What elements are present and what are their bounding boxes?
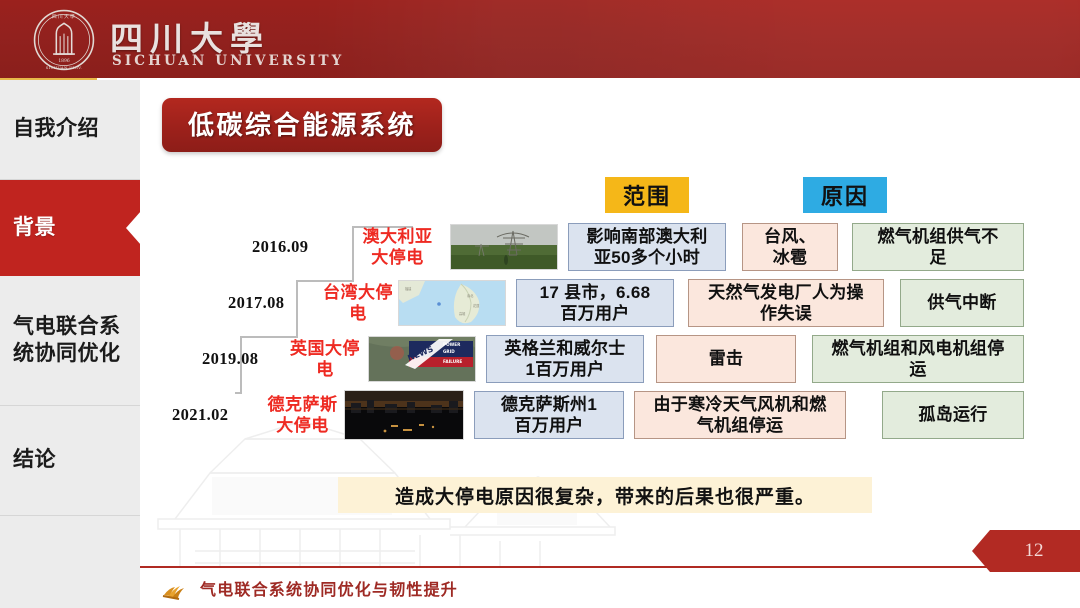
svg-text:POWER: POWER [443,342,461,347]
active-pointer-icon [126,211,141,245]
sidebar-item-background[interactable]: 背景 [0,180,140,276]
column-header-scope: 范围 [605,177,689,213]
slide-canvas: 低碳综合能源系统 范围 原因 2016.09 澳大利亚 大停电 [140,80,1080,608]
row-result-box: 燃气机组和风电机组停 运 [812,335,1024,383]
row-cause-box: 雷击 [656,335,796,383]
svg-text:GRID: GRID [443,349,455,354]
row-cause-box: 台风、 冰雹 [742,223,838,271]
row-result-box: 供气中断 [900,279,1024,327]
timeline-row: 2017.08 台湾大停 电 臺北 花蓮 高雄 福建 17 [140,276,1080,330]
summary-text: 造成大停电原因很复杂，带来的后果也很严重。 [395,482,815,509]
sidebar-item-conclusion[interactable]: 结论 [0,406,140,516]
svg-text:花蓮: 花蓮 [473,303,480,308]
column-header-scope-label: 范围 [623,179,671,211]
timeline-row: 2021.02 德克萨斯 大停电 [140,388,1080,442]
timeline-row: 2019.08 英国大停 电 NEWS POWER GRID [140,332,1080,386]
column-header-cause: 原因 [803,177,887,213]
svg-text:高雄: 高雄 [459,311,466,316]
svg-text:福建: 福建 [405,286,412,291]
row-event: 台湾大停 电 [313,282,403,325]
slide-header: 1896 四川大學 SICHUAN UNIV. 四川大學 SICHUAN UNI… [0,0,1080,80]
university-name-en: SICHUAN UNIVERSITY [112,53,344,69]
sidebar-item-coordinated-optimization[interactable]: 气电联合系统协同优化 [0,276,140,406]
row-date: 2019.08 [202,349,258,369]
page-number: 12 [1025,540,1044,562]
row-scope-box: 影响南部澳大利 亚50多个小时 [568,223,726,271]
sidebar-item-label: 气电联合系统协同优化 [13,314,134,368]
slide-title-banner: 低碳综合能源系统 [162,98,442,152]
row-cause-box: 天然气发电厂人为操 作失误 [688,279,884,327]
row-result-box: 燃气机组供气不 足 [852,223,1024,271]
page-title: 低碳综合能源系统 [188,110,416,140]
row-event: 德克萨斯 大停电 [250,394,355,437]
sichuan-university-crest-icon: 1896 四川大學 SICHUAN UNIV. [32,8,96,72]
page-number-badge: 12 [972,530,1080,572]
column-header-cause-label: 原因 [821,179,869,211]
row-cause-box: 由于寒冷天气风机和燃 气机组停运 [634,391,846,439]
row-thumbnail-news-grid-failure: NEWS POWER GRID FAILURE [368,336,476,382]
summary-banner: 造成大停电原因很复杂，带来的后果也很严重。 [338,477,872,513]
sidebar-item-label: 背景 [13,215,56,242]
row-thumbnail-transmission-tower [450,224,558,270]
row-date: 2016.09 [252,237,308,257]
sidebar-item-label: 自我介绍 [13,116,99,143]
sidebar-item-self-intro[interactable]: 自我介绍 [0,80,140,180]
row-scope-box: 德克萨斯州1 百万用户 [474,391,624,439]
row-scope-box: 17 县市，6.68 百万用户 [516,279,674,327]
svg-text:1896: 1896 [58,58,70,64]
slide-root: 1896 四川大學 SICHUAN UNIV. 四川大學 SICHUAN UNI… [0,0,1080,608]
torch-icon [160,575,186,601]
footer-title: 气电联合系统协同优化与韧性提升 [200,576,458,600]
row-date: 2017.08 [228,293,284,313]
row-date: 2021.02 [172,405,228,425]
row-event: 英国大停 电 [280,338,370,381]
timeline-row: 2016.09 澳大利亚 大停电 [140,220,1080,274]
row-event: 澳大利亚 大停电 [345,226,450,269]
svg-text:臺北: 臺北 [467,293,474,298]
slide-footer: 气电联合系统协同优化与韧性提升 [140,568,1080,608]
row-thumbnail-blackout-city [344,390,464,440]
row-scope-box: 英格兰和威尔士 1百万用户 [486,335,644,383]
row-result-box: 孤岛运行 [882,391,1024,439]
sidebar-item-label: 结论 [13,447,56,474]
sidebar-nav: 自我介绍 背景 气电联合系统协同优化 结论 [0,80,140,608]
row-thumbnail-taiwan-map: 臺北 花蓮 高雄 福建 [398,280,506,326]
svg-text:SICHUAN UNIV.: SICHUAN UNIV. [46,65,82,70]
svg-text:FAILURE: FAILURE [443,359,462,364]
